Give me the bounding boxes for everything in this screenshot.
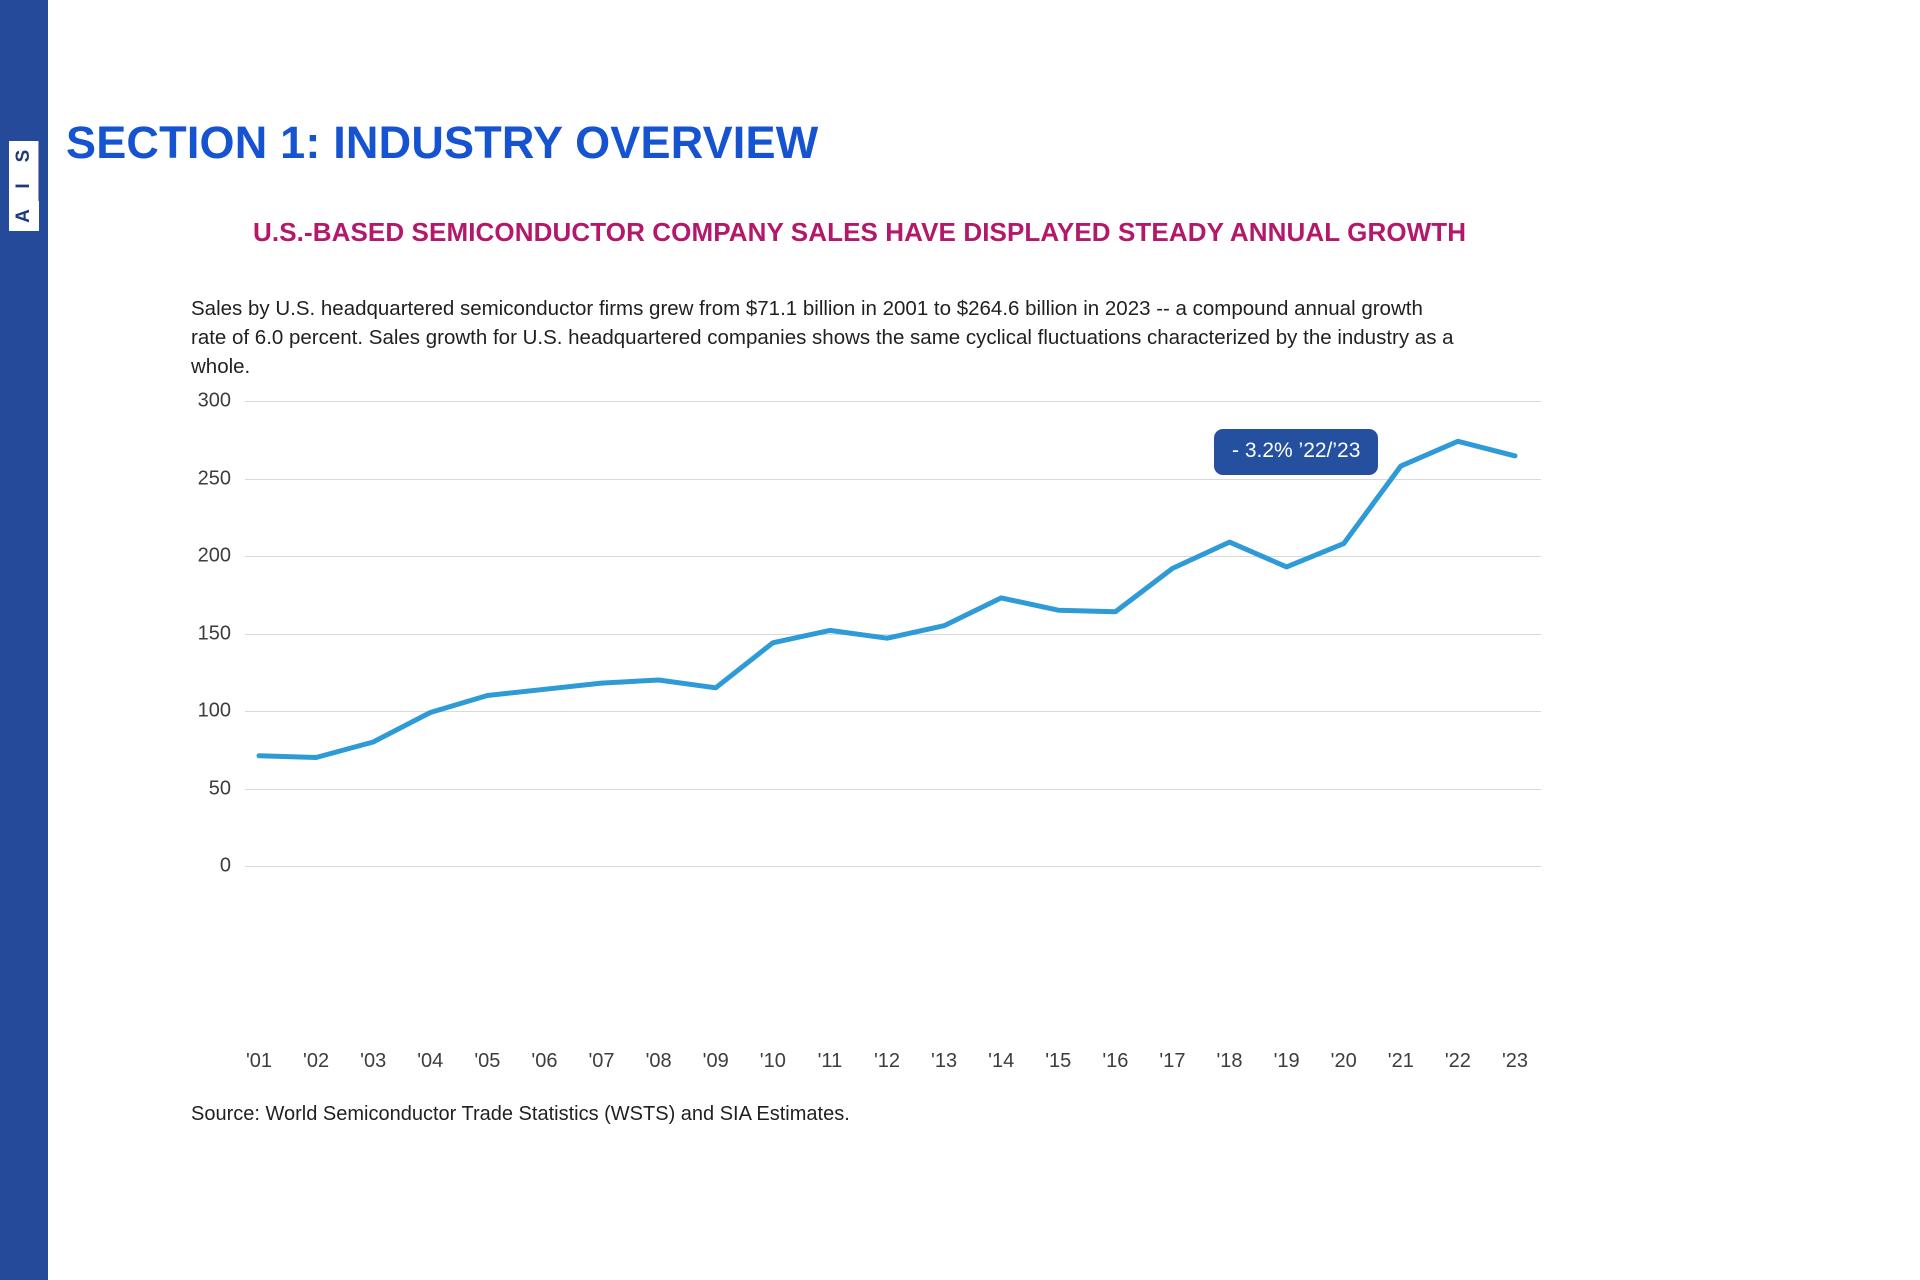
sia-logo-letter-a: A [9, 201, 39, 231]
sia-logo-letter-i: I [9, 171, 39, 201]
x-axis-tick-label: '03 [360, 1050, 386, 1073]
x-axis-tick-label: '06 [531, 1050, 557, 1073]
sia-logo: S I A [8, 140, 40, 232]
x-axis-tick-label: '20 [1331, 1050, 1357, 1073]
y-axis-tick-label: 50 [209, 777, 231, 800]
y-axis-tick-label: 150 [198, 622, 231, 645]
x-axis-tick-label: '05 [474, 1050, 500, 1073]
x-axis-tick-label: '04 [417, 1050, 443, 1073]
x-axis-tick-label: '12 [874, 1050, 900, 1073]
x-axis-tick-label: '18 [1216, 1050, 1242, 1073]
x-axis-tick-label: '23 [1502, 1050, 1528, 1073]
page-title: SECTION 1: INDUSTRY OVERVIEW [66, 117, 818, 169]
y-axis-tick-label: 300 [198, 390, 231, 413]
x-axis-tick-label: '17 [1159, 1050, 1185, 1073]
x-axis-tick-label: '15 [1045, 1050, 1071, 1073]
y-axis-tick-label: 0 [220, 855, 231, 878]
intro-paragraph: Sales by U.S. headquartered semiconducto… [191, 294, 1461, 381]
y-axis-tick-label: 250 [198, 467, 231, 490]
x-axis-tick-label: '22 [1445, 1050, 1471, 1073]
x-axis-tick-label: '16 [1102, 1050, 1128, 1073]
y-axis-tick-label: 200 [198, 545, 231, 568]
x-axis-tick-label: '19 [1274, 1050, 1300, 1073]
x-axis-tick-label: '02 [303, 1050, 329, 1073]
x-axis-tick-label: '11 [818, 1050, 843, 1073]
x-axis-tick-label: '08 [646, 1050, 672, 1073]
x-axis-tick-label: '10 [760, 1050, 786, 1073]
status-badge: - 3.2% ’22/’23 [1214, 429, 1378, 475]
gridline [245, 866, 1541, 867]
source-note: Source: World Semiconductor Trade Statis… [191, 1103, 850, 1126]
chart-headline: U.S.-BASED SEMICONDUCTOR COMPANY SALES H… [253, 217, 1466, 248]
x-axis-tick-label: '07 [588, 1050, 614, 1073]
x-axis-tick-label: '01 [246, 1050, 272, 1073]
x-axis-tick-label: '21 [1388, 1050, 1414, 1073]
x-axis-tick-label: '09 [703, 1050, 729, 1073]
sia-logo-letter-s: S [9, 141, 39, 171]
chart-x-axis: '01'02'03'04'05'06'07'08'09'10'11'12'13'… [245, 1050, 1555, 1090]
x-axis-tick-label: '13 [931, 1050, 957, 1073]
x-axis-tick-label: '14 [988, 1050, 1014, 1073]
y-axis-tick-label: 100 [198, 700, 231, 723]
